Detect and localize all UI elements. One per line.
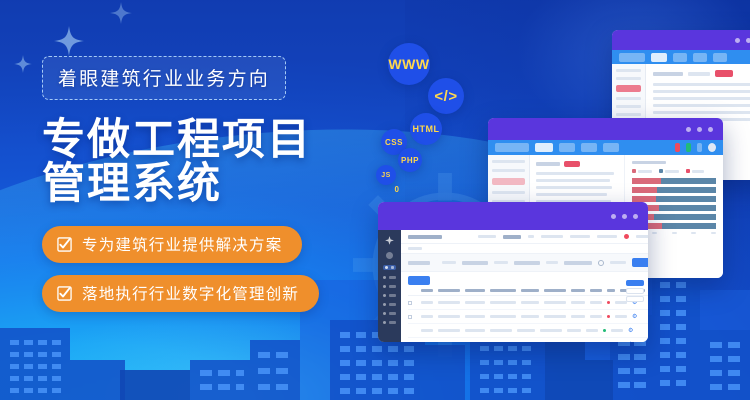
list-rows-back (653, 83, 750, 121)
filter-input[interactable] (564, 261, 592, 265)
feature-bullets: 专为建筑行业提供解决方案 落地执行行业数字化管理创新 (42, 226, 372, 312)
menu-item[interactable] (626, 288, 644, 294)
cell (421, 301, 433, 304)
nav-tab[interactable] (581, 143, 597, 152)
legend-label (665, 170, 679, 173)
sidebar-item[interactable] (492, 160, 525, 163)
sidebar-item[interactable] (492, 191, 525, 194)
sidebar-item-active[interactable] (492, 178, 525, 185)
banner-copy: 着眼建筑行业业务方向 专做工程项目 管理系统 专为建筑行业提供解决方案 (42, 56, 372, 324)
row-checkbox[interactable] (408, 315, 412, 319)
content-front: ⚙ ⚙ (401, 230, 648, 342)
feature-bullet-label: 专为建筑行业提供解决方案 (82, 233, 282, 255)
legend-label (638, 170, 652, 173)
add-button[interactable] (408, 276, 430, 285)
chart-bar (632, 196, 716, 202)
sidebar-item[interactable] (383, 285, 396, 288)
window-dot (686, 127, 691, 132)
app-title (408, 235, 442, 239)
status-badge (607, 315, 610, 318)
sidebar-item[interactable] (616, 113, 641, 116)
sidebar-collapse-button[interactable] (383, 252, 396, 259)
sidebar-item-active[interactable] (616, 85, 641, 92)
sidebar-item-label (391, 266, 394, 269)
list-row[interactable] (536, 186, 612, 189)
window-dot (622, 214, 627, 219)
cell (465, 301, 485, 304)
column-header[interactable] (521, 289, 539, 292)
cell (590, 315, 602, 318)
column-header[interactable] (544, 289, 566, 292)
window-dot (697, 127, 702, 132)
sidebar-item[interactable] (383, 294, 396, 297)
dashboard-front[interactable]: ⚙ ⚙ (378, 202, 648, 342)
sidebar-item[interactable] (383, 276, 396, 279)
sidebar-logo (383, 235, 396, 248)
cell (521, 315, 539, 318)
row-checkbox[interactable] (408, 301, 412, 305)
sidebar-item-icon (385, 266, 388, 269)
tech-bubble-label: WWW (388, 56, 429, 72)
message-icon[interactable] (686, 143, 691, 152)
feature-bullet-2[interactable]: 落地执行行业数字化管理创新 (42, 275, 319, 312)
legend-label (692, 170, 704, 173)
nav-tab[interactable] (693, 53, 707, 62)
sidebar-item-label (389, 321, 396, 324)
window-titlebar-back (612, 30, 750, 50)
window-dot (746, 38, 750, 43)
list-row[interactable] (653, 83, 750, 86)
status-badge (603, 329, 606, 332)
nav-tab[interactable] (603, 143, 619, 152)
sidebar-item[interactable] (616, 77, 641, 80)
cell (615, 315, 627, 318)
cell (611, 329, 623, 332)
filter-select[interactable] (462, 261, 488, 265)
cell (586, 329, 598, 332)
filter-label (408, 261, 430, 265)
list-row[interactable] (536, 179, 610, 182)
cell (517, 329, 535, 332)
cell (465, 315, 485, 318)
filter-field[interactable] (536, 162, 560, 166)
subtitle-text: 着眼建筑行业业务方向 (58, 64, 270, 91)
app-topbar-back (612, 50, 750, 64)
chart-bar (632, 178, 716, 184)
cell (438, 301, 460, 304)
legend-swatch (659, 169, 663, 173)
filter-label (546, 261, 558, 264)
nav-link[interactable] (541, 235, 563, 238)
legend-item (632, 169, 652, 173)
legend-item (686, 169, 704, 173)
headline-line-2: 管理系统 (42, 162, 372, 206)
sidebar-item-label (389, 312, 396, 315)
sidebar-item[interactable] (383, 321, 396, 324)
column-header[interactable] (465, 289, 485, 292)
search-icon[interactable] (598, 260, 604, 266)
feature-bullet-label: 落地执行行业数字化管理创新 (82, 282, 299, 304)
primary-button[interactable] (564, 161, 580, 167)
cell (490, 315, 516, 318)
notification-icon[interactable] (624, 234, 629, 239)
list-row[interactable] (653, 90, 750, 93)
list-row[interactable] (653, 97, 750, 100)
tech-bubble-php: PHP (398, 148, 422, 172)
column-header[interactable] (590, 289, 602, 292)
app-topbar-middle (488, 140, 723, 155)
tech-bubble-label: </> (434, 88, 457, 105)
nav-link-active[interactable] (503, 235, 521, 239)
column-header[interactable] (438, 289, 460, 292)
user-menu[interactable] (636, 235, 648, 238)
filter-select[interactable] (514, 261, 540, 265)
window-titlebar-front (378, 202, 648, 230)
legend-item (659, 169, 679, 173)
table-row[interactable]: ⚙ (408, 296, 648, 310)
sidebar-item-icon (383, 294, 386, 297)
tech-bubble-html: HTML (410, 113, 442, 145)
page-title: 专做工程项目 管理系统 (42, 118, 372, 206)
tech-bubble-label: CSS (385, 138, 403, 147)
sidebar-item-icon (383, 285, 386, 288)
subtitle-box: 着眼建筑行业业务方向 (42, 56, 286, 100)
toolbar-back (653, 70, 750, 77)
sidebar-item-active[interactable] (383, 265, 396, 270)
menu-item[interactable] (626, 280, 644, 286)
chevron-down-icon[interactable] (528, 235, 534, 238)
column-header[interactable] (490, 289, 516, 292)
cell (590, 301, 602, 304)
sidebar-item-icon (383, 276, 386, 279)
cell (421, 315, 433, 318)
chart-title (632, 161, 666, 164)
sidebar-item[interactable] (616, 97, 641, 100)
row-action-icon[interactable]: ⚙ (628, 327, 633, 334)
cell (540, 329, 562, 332)
filter-field[interactable] (653, 72, 683, 76)
cell (490, 301, 516, 304)
primary-button[interactable] (715, 70, 733, 77)
sidebar-item-label (389, 303, 396, 306)
cell (421, 329, 433, 332)
filter-field[interactable] (688, 72, 710, 76)
row-action-icon[interactable]: ⚙ (632, 313, 637, 320)
list-row[interactable] (653, 104, 750, 107)
row-action-menu[interactable] (626, 280, 644, 302)
legend-swatch (686, 169, 690, 173)
tech-bubble-label: JS (381, 172, 391, 179)
window-titlebar-middle (488, 118, 723, 140)
nav-link[interactable] (597, 235, 617, 238)
cell (567, 329, 581, 332)
sidebar-item-label (389, 285, 396, 288)
reset-link[interactable] (610, 261, 626, 264)
cell (438, 315, 460, 318)
action-bar-front (401, 272, 648, 289)
filter-label (442, 261, 456, 264)
filter-bar-front (401, 253, 648, 272)
tech-bubble-zero: 0 (390, 182, 404, 196)
cell (544, 301, 566, 304)
chart-bar (632, 187, 716, 193)
cell (521, 301, 539, 304)
sidebar-item[interactable] (616, 69, 641, 72)
legend-swatch (632, 169, 636, 173)
tech-bubble-label: HTML (413, 124, 440, 134)
checkbox-checked-icon (57, 237, 72, 252)
tech-bubble-label: PHP (401, 156, 419, 165)
headline-line-1: 专做工程项目 (42, 118, 372, 162)
banner-stage: WWW </> HTML CSS PHP JS 0 (0, 0, 750, 400)
sidebar-item-icon (383, 312, 386, 315)
status-badge (607, 301, 610, 304)
list-row[interactable] (653, 111, 750, 114)
avatar[interactable] (708, 143, 716, 152)
notification-icon[interactable] (675, 143, 680, 152)
feature-bullet-1[interactable]: 专为建筑行业提供解决方案 (42, 226, 302, 263)
cell (544, 315, 566, 318)
row-action-icon[interactable]: ⚙ (628, 341, 633, 342)
sidebar-dark-front[interactable] (378, 230, 401, 342)
filter-label (494, 261, 508, 264)
cell (490, 329, 512, 332)
cell (571, 315, 585, 318)
table-row[interactable]: ⚙ (408, 338, 648, 342)
sidebar-item[interactable] (383, 312, 396, 315)
window-dot (633, 214, 638, 219)
compass-icon (383, 235, 396, 248)
data-table-front: ⚙ ⚙ (401, 289, 648, 342)
cell (571, 301, 585, 304)
menu-item[interactable] (626, 296, 644, 302)
table-row[interactable]: ⚙ (408, 324, 648, 338)
left-toolbar (536, 161, 618, 167)
sidebar-item[interactable] (616, 105, 641, 108)
app-body-front: ⚙ ⚙ (378, 230, 648, 342)
window-dot (708, 127, 713, 132)
table-row[interactable]: ⚙ (408, 310, 648, 324)
nav-tab[interactable] (559, 143, 575, 152)
tech-bubble-label: 0 (395, 185, 400, 194)
sidebar-item[interactable] (492, 169, 525, 172)
settings-icon[interactable] (697, 143, 702, 152)
nav-tab-active[interactable] (535, 143, 553, 152)
app-logo (495, 143, 529, 152)
checkbox-checked-icon (57, 286, 72, 301)
tech-bubble-www: WWW (388, 43, 430, 85)
cell (465, 329, 485, 332)
tech-bubble-code: </> (428, 78, 464, 114)
sidebar-item[interactable] (383, 303, 396, 306)
nav-tab[interactable] (673, 53, 687, 62)
cell (438, 329, 460, 332)
list-row[interactable] (536, 172, 614, 175)
sidebar-item-icon (383, 321, 386, 324)
nav-link[interactable] (570, 235, 590, 238)
column-header[interactable] (607, 289, 615, 292)
sidebar-item-label (389, 276, 396, 279)
window-dot (735, 38, 740, 43)
window-dot (611, 214, 616, 219)
app-header-front (401, 230, 648, 244)
nav-link[interactable] (478, 235, 496, 238)
column-header[interactable] (571, 289, 585, 292)
nav-tab-active[interactable] (651, 53, 667, 62)
table-header-row (408, 289, 648, 296)
search-button[interactable] (632, 258, 648, 267)
nav-tab[interactable] (713, 53, 727, 62)
sidebar-item-icon (383, 303, 386, 306)
list-row[interactable] (536, 193, 607, 196)
breadcrumb (401, 244, 648, 253)
chart-legend (632, 169, 716, 173)
sidebar-item-label (389, 294, 396, 297)
app-logo (619, 53, 645, 62)
column-header[interactable] (421, 289, 433, 292)
